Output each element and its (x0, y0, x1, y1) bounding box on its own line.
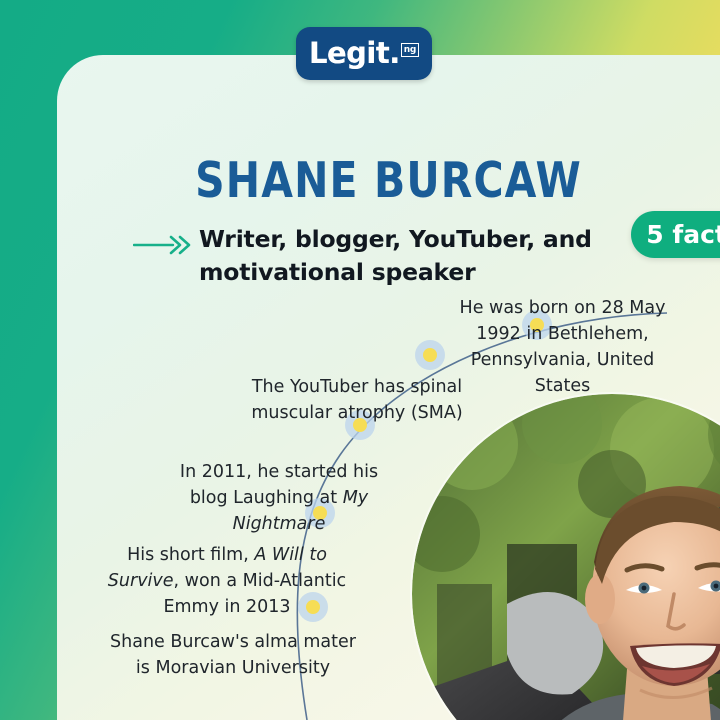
subtitle-block: Writer, blogger, YouTuber, and motivatio… (133, 223, 599, 289)
fact-item-4: His short film, A Will to Survive, won a… (97, 542, 357, 620)
content-card: SHANE BURCAW Writer, blogger, YouTuber, … (57, 55, 720, 720)
logo-wordmark: Legit. (309, 39, 400, 68)
fact-item-1: He was born on 28 May 1992 in Bethlehem,… (441, 295, 684, 399)
fact-item-2: The YouTuber has spinal muscular atrophy… (248, 374, 466, 426)
fact-4-pre: His short film, (127, 545, 254, 565)
subtitle-text: Writer, blogger, YouTuber, and motivatio… (199, 223, 599, 289)
fact-item-5: Shane Burcaw's alma mater is Moravian Un… (109, 629, 357, 681)
logo-tld-box: ng (401, 43, 419, 57)
facts-count-badge: 5 facts (631, 211, 720, 258)
page-title: SHANE BURCAW (80, 152, 697, 209)
portrait-photo (412, 394, 720, 720)
fact-4-post: , won a Mid-Atlantic Emmy in 2013 (163, 571, 346, 617)
fact-item-3: In 2011, he started his blog Laughing at… (164, 459, 394, 537)
arrow-right-double-icon (133, 232, 193, 258)
legit-logo[interactable]: Legit. ng (296, 27, 432, 80)
